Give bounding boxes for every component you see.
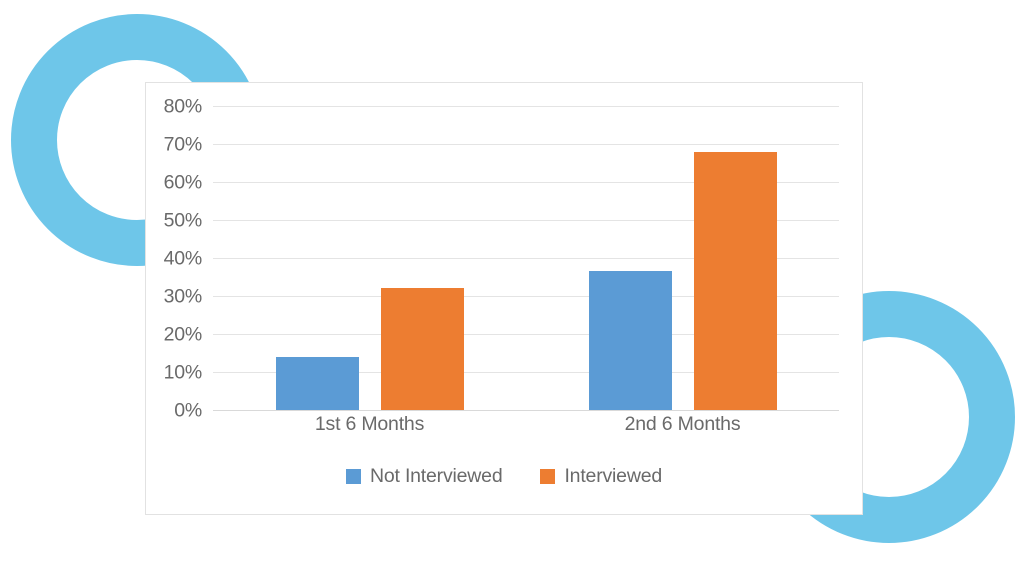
legend-item[interactable]: Not Interviewed (346, 465, 502, 488)
y-axis-tick-label: 30% (164, 286, 213, 309)
legend-swatch-icon (346, 469, 361, 484)
category-axis: 1st 6 Months2nd 6 Months (213, 413, 839, 443)
bar-not-interviewed[interactable] (276, 357, 359, 410)
bar-interviewed[interactable] (381, 288, 464, 410)
legend-label: Not Interviewed (370, 465, 502, 488)
x-axis-category-label: 1st 6 Months (315, 413, 424, 436)
y-axis-tick-label: 20% (164, 324, 213, 347)
y-axis-tick-label: 0% (174, 400, 213, 423)
legend-item[interactable]: Interviewed (540, 465, 662, 488)
y-axis-tick-label: 80% (164, 96, 213, 119)
bars-layer (213, 106, 839, 410)
bar-not-interviewed[interactable] (589, 271, 672, 410)
y-axis-tick-label: 40% (164, 248, 213, 271)
chart-legend: Not InterviewedInterviewed (146, 465, 862, 488)
y-axis-tick-label: 70% (164, 134, 213, 157)
plot-area: 0%10%20%30%40%50%60%70%80% (213, 106, 839, 410)
legend-swatch-icon (540, 469, 555, 484)
y-axis-tick-label: 50% (164, 210, 213, 233)
bar-interviewed[interactable] (694, 152, 777, 410)
y-axis-tick-label: 60% (164, 172, 213, 195)
x-axis-category-label: 2nd 6 Months (625, 413, 741, 436)
legend-label: Interviewed (564, 465, 662, 488)
chart-card: 0%10%20%30%40%50%60%70%80% 1st 6 Months2… (145, 82, 863, 515)
y-axis-tick-label: 10% (164, 362, 213, 385)
gridline: 0% (213, 410, 839, 411)
